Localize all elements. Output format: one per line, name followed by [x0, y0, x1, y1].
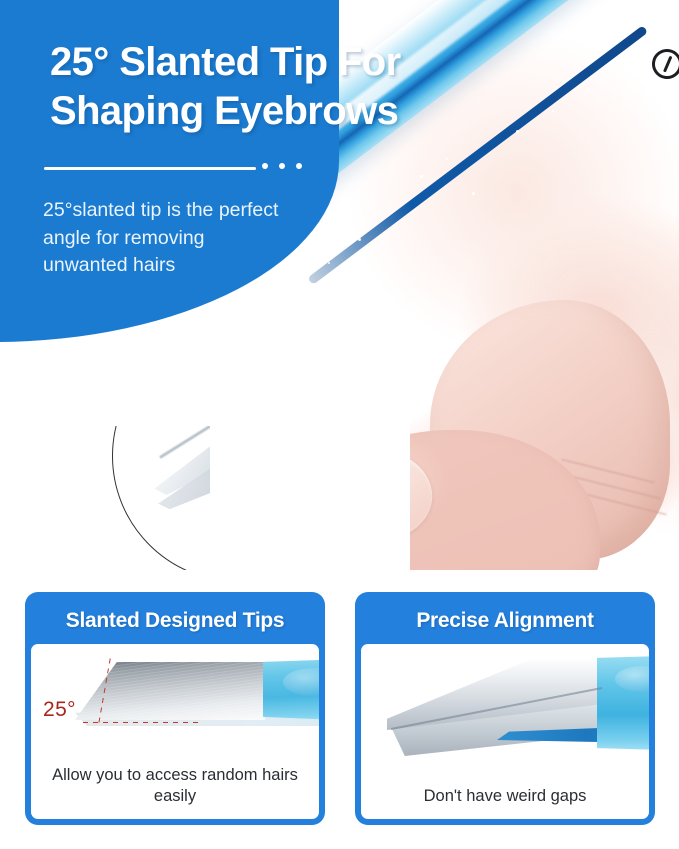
- sparkle-speck: [358, 238, 361, 241]
- sparkle-speck: [382, 216, 384, 218]
- circle-mask: [112, 330, 292, 426]
- sparkle-speck: [446, 158, 448, 160]
- feature-card-title: Slanted Designed Tips: [31, 598, 319, 644]
- angle-guide-line-horizontal: [83, 722, 201, 723]
- feature-card-title: Precise Alignment: [361, 598, 649, 644]
- sparkle-speck: [328, 262, 330, 264]
- feature-card-slanted-designed-tips: Slanted Designed Tips 25° Allow you to a…: [25, 592, 325, 825]
- feature-card-body: 25° Allow you to access random hairs eas…: [31, 644, 319, 819]
- divider-dot: [262, 163, 268, 169]
- product-infographic: 25° Slanted Tip For Shaping Eyebrows 25°…: [0, 0, 679, 849]
- hero-subtitle: 25°slanted tip is the perfect angle for …: [43, 197, 291, 280]
- sparkle-speck: [472, 192, 475, 195]
- page-title: 25° Slanted Tip For Shaping Eyebrows: [50, 38, 520, 136]
- feature-card-precise-alignment: Precise Alignment Don't have weird gaps: [355, 592, 655, 825]
- angle-label: 25°: [43, 698, 76, 722]
- sparkle-speck: [552, 110, 554, 112]
- hero-divider-dots: [262, 163, 302, 169]
- feature-card-caption: Don't have weird gaps: [361, 786, 649, 819]
- hero-divider: [44, 167, 256, 170]
- precise-alignment-diagram: [361, 644, 649, 786]
- slanted-tip-diagram: 25°: [31, 644, 319, 765]
- sparkle-speck: [420, 175, 423, 178]
- sparkle-speck: [586, 88, 589, 91]
- feature-cards: Slanted Designed Tips 25° Allow you to a…: [0, 570, 679, 849]
- sparkle-speck: [304, 288, 306, 290]
- divider-dot: [279, 163, 285, 169]
- feature-card-caption: Allow you to access random hairs easily: [31, 765, 319, 819]
- feature-card-body: Don't have weird gaps: [361, 644, 649, 819]
- hero-section: 25° Slanted Tip For Shaping Eyebrows 25°…: [0, 0, 679, 570]
- divider-dot: [296, 163, 302, 169]
